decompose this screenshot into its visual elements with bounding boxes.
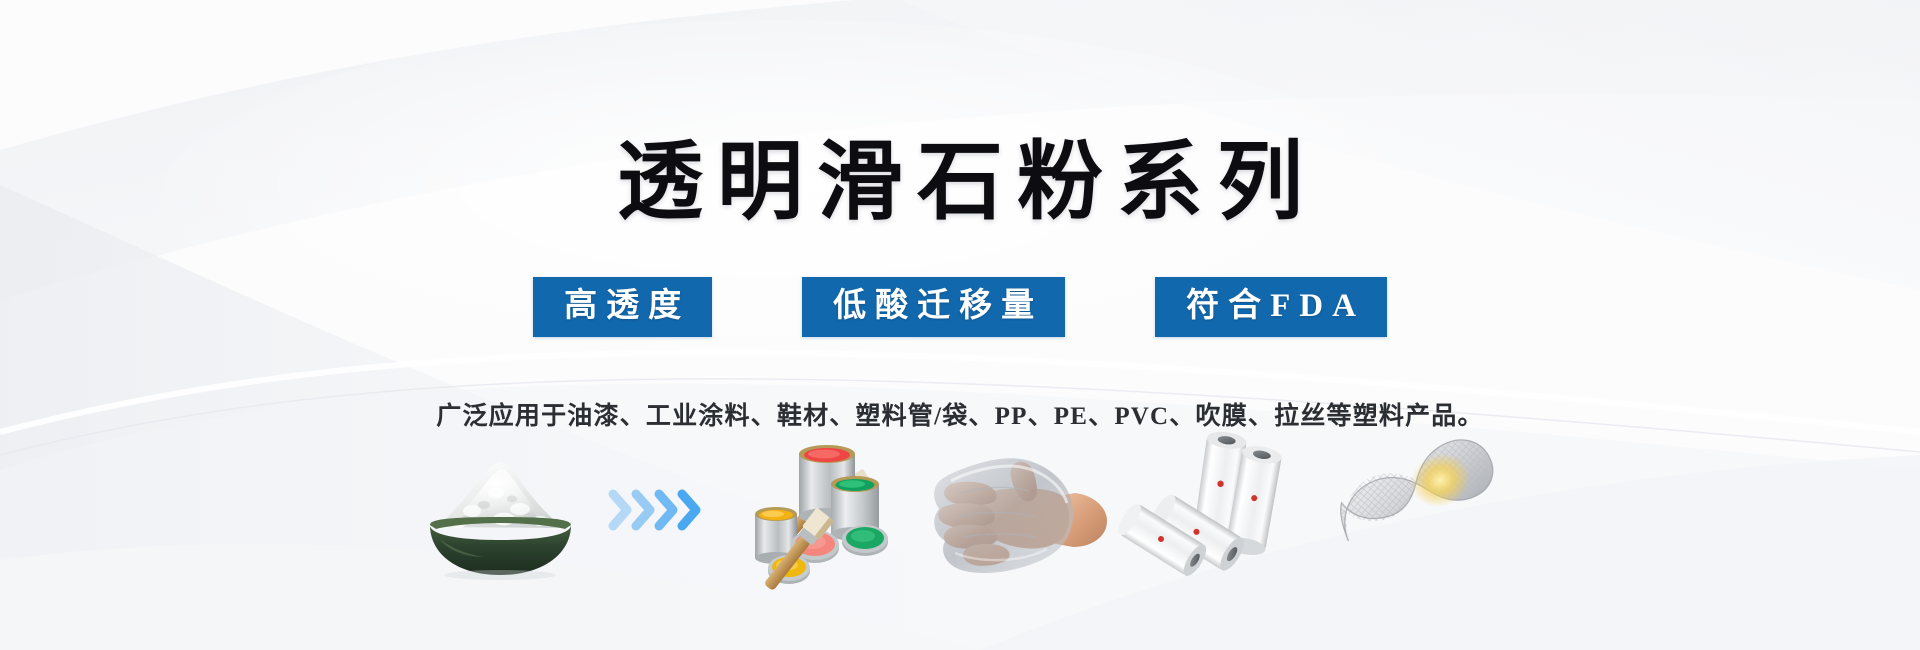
product-banner: 透明滑石粉系列 高透度 低酸迁移量 符合FDA 广泛应用于油漆、工业涂料、鞋材、… bbox=[0, 0, 1920, 650]
chevron-2-icon bbox=[636, 494, 650, 526]
product-shoe-sole bbox=[1320, 420, 1520, 600]
product-image-strip bbox=[0, 420, 1920, 600]
plastic-glove-icon bbox=[934, 458, 1073, 573]
product-paint-cans bbox=[720, 420, 920, 600]
product-talc-powder-bowl bbox=[400, 420, 600, 600]
chevron-4-icon bbox=[682, 494, 696, 526]
page-title: 透明滑石粉系列 bbox=[603, 136, 1317, 229]
badge-low-acid-migration[interactable]: 低酸迁移量 bbox=[802, 277, 1065, 337]
paint-lid-green bbox=[842, 525, 888, 556]
badge-fda-compliant[interactable]: 符合FDA bbox=[1155, 277, 1387, 337]
chevron-3-icon bbox=[659, 494, 673, 526]
product-gloved-hand bbox=[920, 420, 1120, 600]
chevron-1-icon bbox=[613, 494, 627, 526]
badge-high-transparency[interactable]: 高透度 bbox=[533, 277, 712, 337]
product-film-rolls bbox=[1120, 420, 1320, 600]
flow-arrows-group bbox=[600, 420, 720, 600]
title-container: 透明滑石粉系列 bbox=[0, 78, 1920, 286]
feature-badge-row: 高透度 低酸迁移量 符合FDA bbox=[0, 277, 1920, 337]
